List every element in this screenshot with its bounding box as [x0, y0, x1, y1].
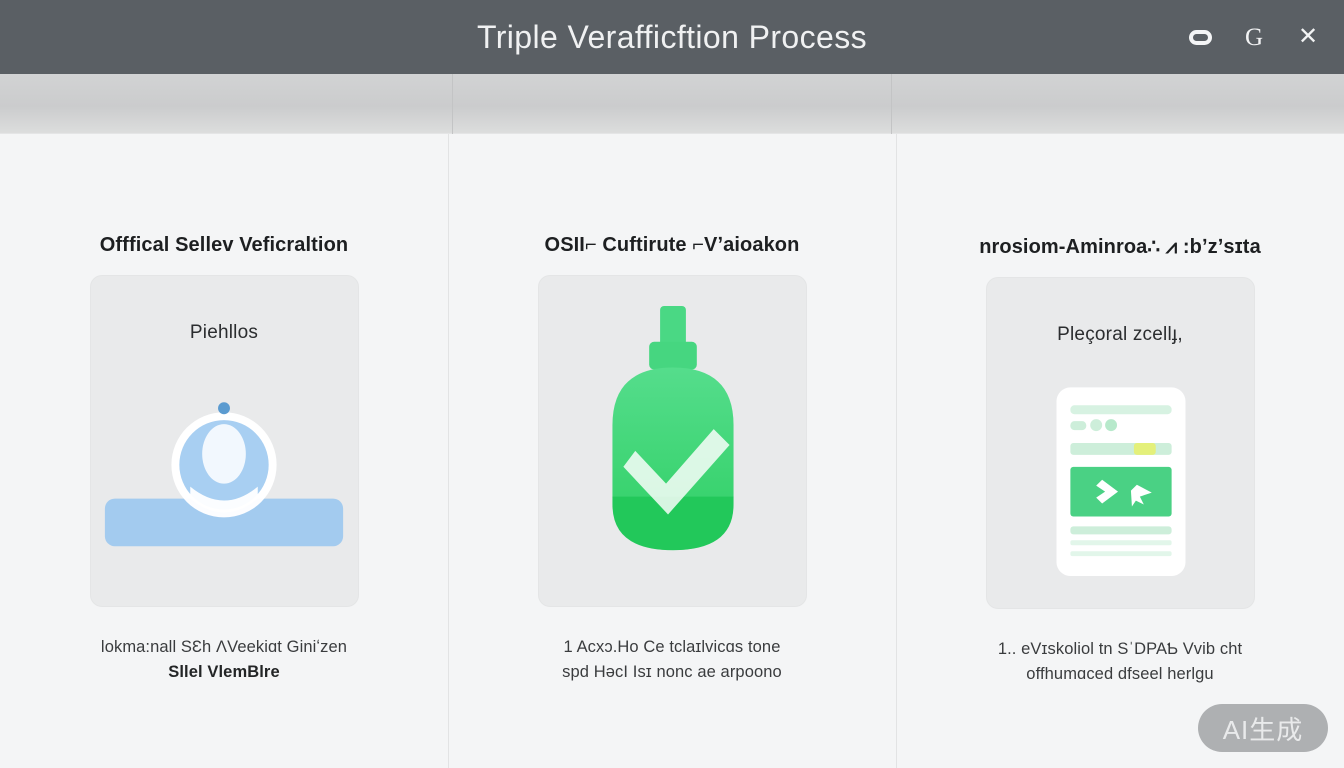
column-official-seller-verification: Offfical Sellev Veficraltion Piehllos lo…: [0, 134, 448, 768]
close-button[interactable]: ✕: [1292, 21, 1324, 53]
caption-line-1: 1.. eVɪskoliol tn SˈDPAƄ Vvib cht: [955, 637, 1285, 662]
column-caption: 1 Acxɔ.Ho Ce tclaɪlvicɑs tone spd HǝcI I…: [507, 635, 837, 685]
caption-line-1: 1 Acxɔ.Ho Ce tclaɪlvicɑs tone: [507, 635, 837, 660]
verification-columns: Offfical Sellev Veficraltion Piehllos lo…: [0, 134, 1344, 768]
minimize-oval-button[interactable]: [1184, 21, 1216, 53]
window-title: Triple Verafficftion Process: [477, 19, 867, 56]
media-placeholder-card[interactable]: [538, 275, 807, 607]
green-bottle-check-icon: [539, 276, 806, 606]
oval-icon: [1189, 30, 1212, 45]
g-glyph-button[interactable]: G: [1238, 21, 1270, 53]
band-divider-2: [891, 74, 892, 134]
column-provenance-audit: nrosiom-Aminroa∴ ⩘ :bʼzʼsɪta Pleçoral zc…: [896, 134, 1344, 768]
column-title: Offfical Sellev Veficraltion: [100, 234, 348, 257]
app-window: Triple Verafficftion Process G ✕ Offfica…: [0, 0, 1344, 768]
caption-line-1: lokma:nall SƐh ΛVeekiɑt Giniʻzen: [59, 635, 389, 660]
caption-line-2: Sllel VlemBlre: [59, 660, 389, 685]
caption-line-2: spd HǝcI Isɪ nonc ae arpoono: [507, 660, 837, 685]
media-placeholder-card[interactable]: Pleçoral zcellɟ,: [986, 277, 1255, 609]
column-title: nrosiom-Aminroa∴ ⩘ :bʼzʼsɪta: [979, 234, 1261, 259]
column-title: OSII⌐ Cuftirute ⌐Vʼaioakon: [545, 234, 800, 257]
window-controls: G ✕: [1184, 0, 1324, 74]
ai-generated-watermark: AI生成: [1198, 704, 1328, 752]
identity-badge-icon: [91, 276, 358, 606]
caption-line-2: offhumɑced dfseel herlgu: [955, 662, 1285, 687]
column-caption: 1.. eVɪskoliol tn SˈDPAƄ Vvib cht offhum…: [955, 637, 1285, 687]
toolbar-band: [0, 74, 1344, 134]
document-preview-icon: [987, 278, 1254, 608]
column-caption: lokma:nall SƐh ΛVeekiɑt Giniʻzen Sllel V…: [59, 635, 389, 685]
window-titlebar: Triple Verafficftion Process G ✕: [0, 0, 1344, 74]
media-placeholder-card[interactable]: Piehllos: [90, 275, 359, 607]
column-certificate-validation: OSII⌐ Cuftirute ⌐Vʼaioakon: [448, 134, 896, 768]
band-divider-1: [452, 74, 453, 134]
